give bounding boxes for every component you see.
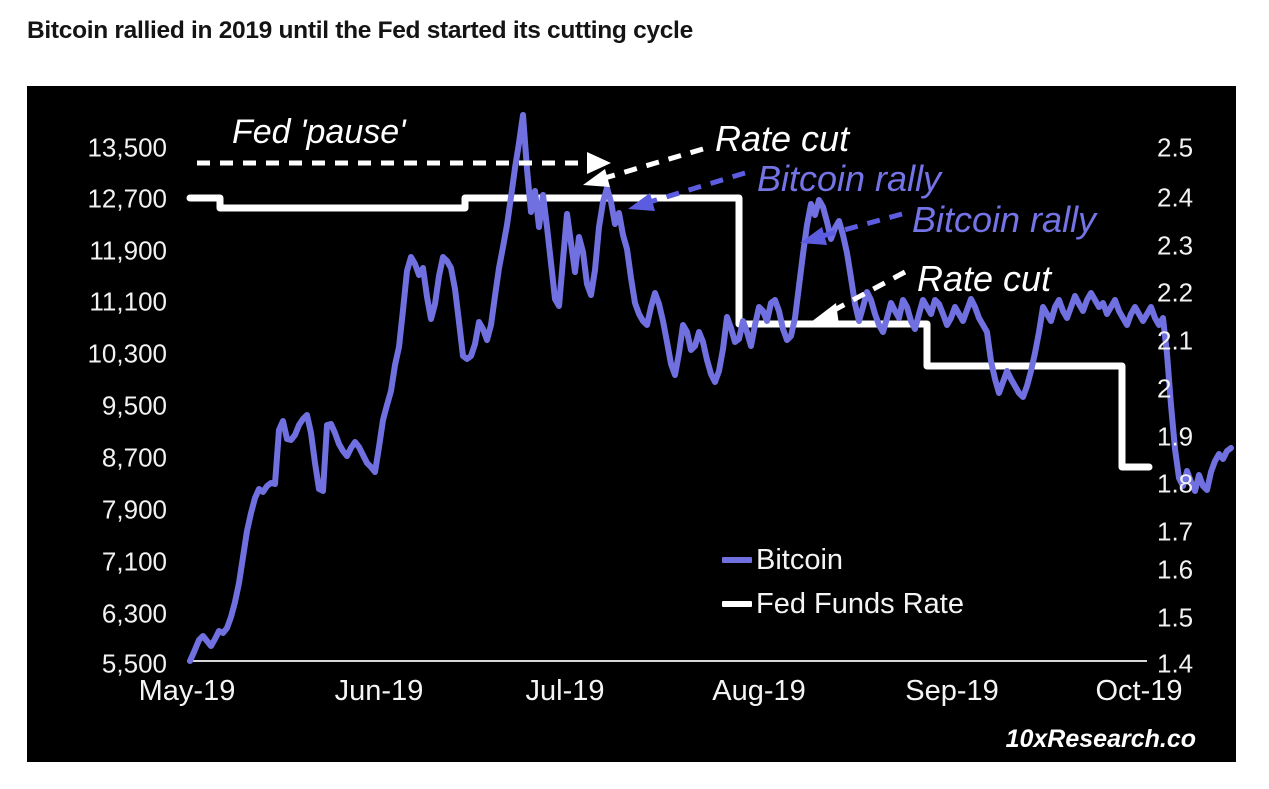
- x-tick-label: Oct-19: [1095, 675, 1182, 708]
- annotation-bitcoin-rally-1: Bitcoin rally: [757, 158, 941, 200]
- y-right-tick: 1.9: [1157, 422, 1193, 453]
- chart-figure: Bitcoin rallied in 2019 until the Fed st…: [0, 0, 1269, 789]
- y-left-tick: 13,500: [87, 133, 167, 164]
- bitcoin-rally-1-arrow-icon: [628, 173, 745, 211]
- x-tick-label: May-19: [139, 675, 236, 708]
- y-right-tick: 2.1: [1157, 326, 1193, 357]
- bitcoin-rally-2-arrow-icon: [800, 214, 902, 245]
- x-tick-label: Aug-19: [712, 675, 806, 708]
- y-left-tick: 12,700: [87, 184, 167, 215]
- legend-label-bitcoin: Bitcoin: [756, 544, 843, 577]
- annotation-fed-pause: Fed 'pause': [232, 113, 406, 152]
- y-left-tick: 7,900: [102, 495, 167, 526]
- annotation-bitcoin-rally-2: Bitcoin rally: [912, 199, 1096, 241]
- legend: Bitcoin Fed Funds Rate: [722, 538, 964, 626]
- legend-label-fed-funds-rate: Fed Funds Rate: [756, 588, 964, 621]
- plot-area: 13,500 12,700 11,900 11,100 10,300 9,500…: [27, 86, 1236, 762]
- chart-canvas: [27, 86, 1236, 762]
- y-left-tick: 11,100: [89, 287, 167, 318]
- y-left-tick: 6,300: [102, 599, 167, 630]
- rate-cut-1-arrow-icon: [583, 149, 703, 187]
- y-right-tick: 1.7: [1157, 517, 1193, 548]
- y-right-tick: 2.5: [1157, 133, 1193, 164]
- x-tick-label: Jul-19: [526, 675, 605, 708]
- watermark: 10xResearch.co: [1006, 725, 1196, 754]
- legend-item-bitcoin: Bitcoin: [722, 538, 964, 582]
- y-right-tick: 2.4: [1157, 183, 1193, 214]
- legend-swatch-fed-funds-rate: [722, 601, 752, 607]
- x-tick-label: Sep-19: [905, 675, 999, 708]
- y-right-tick: 1.5: [1157, 603, 1193, 634]
- y-left-tick: 8,700: [102, 443, 167, 474]
- y-axis-right: 2.5 2.4 2.3 2.2 2.1 2 1.9 1.8 1.7 1.6 1.…: [1157, 86, 1236, 762]
- y-axis-left: 13,500 12,700 11,900 11,100 10,300 9,500…: [27, 86, 167, 762]
- legend-swatch-bitcoin: [722, 557, 752, 563]
- y-left-tick: 7,100: [102, 547, 167, 578]
- y-left-tick: 9,500: [102, 391, 167, 422]
- y-right-tick: 1.6: [1157, 555, 1193, 586]
- fed-pause-arrow-icon: [197, 152, 611, 174]
- y-left-tick: 10,300: [87, 339, 167, 370]
- legend-item-fed-funds-rate: Fed Funds Rate: [722, 582, 964, 626]
- y-right-tick: 2: [1157, 374, 1171, 405]
- annotation-rate-cut-2: Rate cut: [917, 258, 1051, 300]
- page-title: Bitcoin rallied in 2019 until the Fed st…: [27, 17, 1207, 45]
- y-right-tick: 2.3: [1157, 231, 1193, 262]
- y-right-tick: 2.2: [1157, 278, 1193, 309]
- y-left-tick: 11,900: [89, 236, 167, 267]
- x-tick-label: Jun-19: [335, 675, 424, 708]
- annotation-rate-cut-1: Rate cut: [715, 118, 849, 160]
- y-right-tick: 1.8: [1157, 469, 1193, 500]
